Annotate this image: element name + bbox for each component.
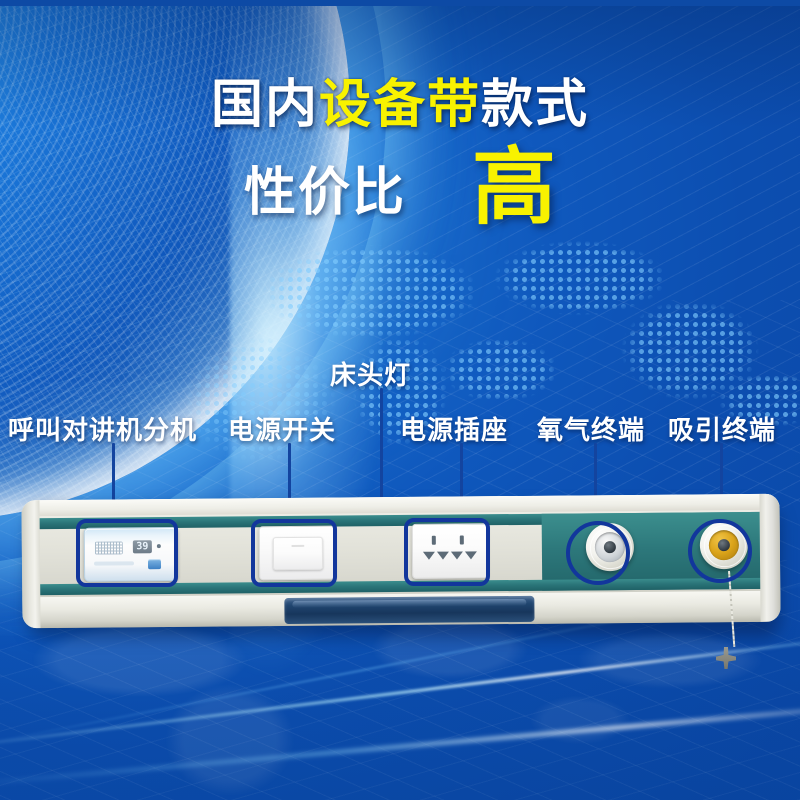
socket-angled-slot-4 xyxy=(465,551,477,559)
callout-label-oxygen: 氧气终端 xyxy=(537,410,645,447)
power-switch-unit[interactable] xyxy=(259,526,335,581)
power-socket-unit[interactable] xyxy=(412,523,488,579)
panel-body: 39 xyxy=(21,494,780,629)
socket-angled-slot-3 xyxy=(451,551,463,559)
switch-indicator-mark xyxy=(291,545,304,547)
intercom-display: 39 xyxy=(133,540,152,553)
callout-label-power-switch: 电源开关 xyxy=(228,410,336,447)
nurse-call-intercom-unit[interactable]: 39 xyxy=(84,527,178,582)
suction-terminal-outlet[interactable] xyxy=(700,521,748,569)
bed-lamp-light-strip[interactable] xyxy=(284,596,534,624)
callout-label-bed-lamp: 床头灯 xyxy=(330,355,411,392)
callout-label-intercom: 呼叫对讲机分机 xyxy=(8,410,197,447)
poster-canvas: 国内设备带款式 性价比 高 呼叫对讲机分机 电源开关 床头灯 电源插座 氧气终端… xyxy=(0,0,800,800)
bed-head-unit-panel: 39 xyxy=(22,497,782,637)
suction-port-core xyxy=(718,539,730,551)
oxygen-inner-ring xyxy=(595,532,625,562)
socket-angled-slot-2 xyxy=(437,552,449,560)
rocker-switch[interactable] xyxy=(273,537,323,570)
socket-angled-slot-1 xyxy=(423,552,435,560)
oxygen-port-core xyxy=(604,541,616,553)
status-led-icon xyxy=(157,544,161,548)
speaker-grille-icon xyxy=(95,541,123,554)
callout-layer: 呼叫对讲机分机 电源开关 床头灯 电源插座 氧气终端 吸引终端 xyxy=(0,0,800,800)
socket-pin-slot-a xyxy=(432,536,436,545)
intercom-label-strip xyxy=(94,561,134,565)
panel-left-end-cap xyxy=(21,500,40,628)
socket-face xyxy=(420,531,480,571)
panel-right-end-cap xyxy=(759,494,780,622)
intercom-call-button[interactable] xyxy=(148,559,161,569)
callout-label-suction: 吸引终端 xyxy=(668,410,776,447)
socket-pin-slot-b xyxy=(460,535,464,544)
oxygen-terminal-outlet[interactable] xyxy=(586,523,634,571)
callout-label-power-socket: 电源插座 xyxy=(400,410,508,447)
suction-inner-ring xyxy=(709,530,739,560)
